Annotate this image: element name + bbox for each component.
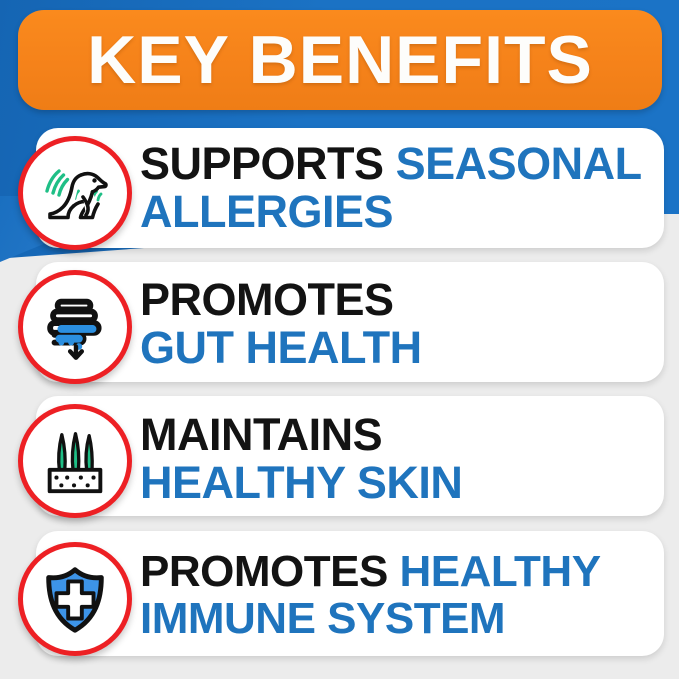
benefit-2-black-text: PROMOTES (140, 274, 394, 325)
benefit-4-blue-text-line2: IMMUNE SYSTEM (140, 594, 505, 643)
skin-hair-follicle-icon-badge (18, 404, 132, 518)
infographic-canvas: KEY BENEFITS (0, 0, 679, 679)
benefit-text-immune-system: PROMOTES HEALTHY IMMUNE SYSTEM (140, 550, 661, 641)
benefit-1-black-text: SUPPORTS (140, 138, 384, 189)
intestine-gut-icon (36, 288, 114, 366)
benefit-3-black-text: MAINTAINS (140, 409, 382, 460)
key-benefits-banner: KEY BENEFITS (18, 10, 662, 110)
shield-cross-immune-icon (36, 560, 114, 638)
benefit-2-blue-text-line2: GUT HEALTH (140, 322, 422, 373)
shield-cross-immune-icon-badge (18, 542, 132, 656)
benefit-4-black-text: PROMOTES (140, 547, 388, 596)
benefit-text-allergies: SUPPORTS SEASONAL ALLERGIES (140, 141, 661, 234)
benefit-1-blue-text-line2: ALLERGIES (140, 186, 393, 237)
benefit-3-blue-text-line2: HEALTHY SKIN (140, 457, 462, 508)
benefit-1-blue-text-line1: SEASONAL (396, 138, 642, 189)
page-title: KEY BENEFITS (87, 26, 593, 94)
benefit-text-healthy-skin: MAINTAINS HEALTHY SKIN (140, 412, 661, 505)
intestine-gut-icon-badge (18, 270, 132, 384)
skin-hair-follicle-icon (36, 422, 114, 500)
dog-scratching-icon (35, 153, 115, 233)
benefit-4-blue-text-line1: HEALTHY (400, 547, 601, 596)
dog-scratching-icon-badge (18, 136, 132, 250)
benefit-text-gut-health: PROMOTES GUT HEALTH (140, 277, 661, 370)
